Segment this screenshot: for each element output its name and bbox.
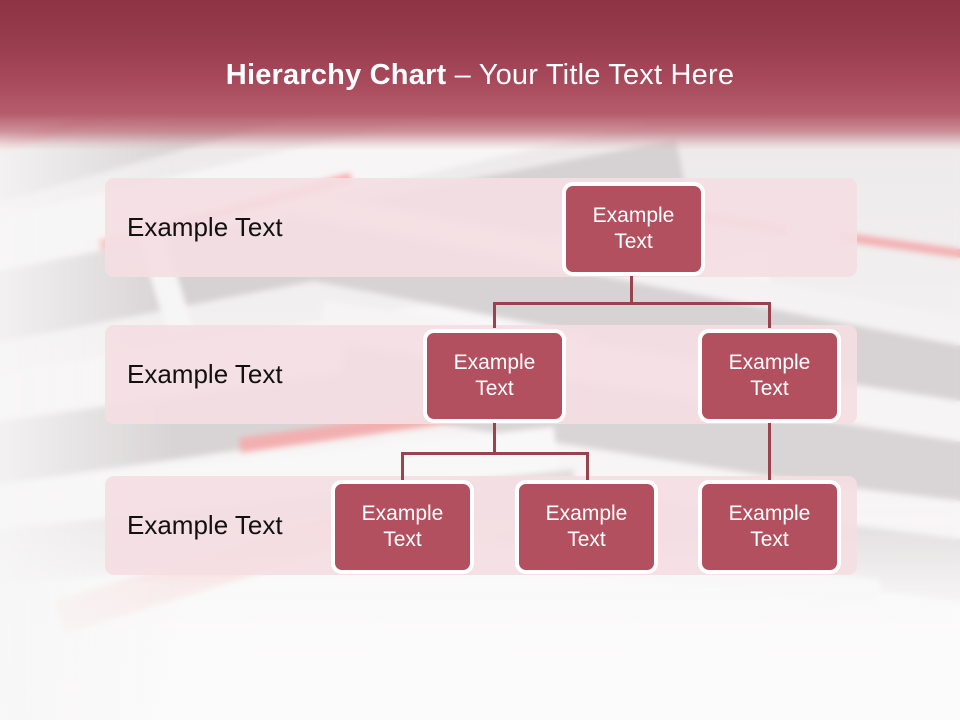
- node-n3-line2: Text: [729, 376, 811, 402]
- hierarchy-node-n5[interactable]: Example Text: [515, 480, 658, 574]
- hierarchy-level-1-label: Example Text: [127, 178, 283, 277]
- node-n1-line2: Text: [593, 229, 675, 255]
- node-n4-line1: Example: [362, 501, 444, 527]
- node-n5-line1: Example: [546, 501, 628, 527]
- connector-n2-n5-drop: [586, 452, 589, 480]
- hierarchy-node-n3[interactable]: Example Text: [698, 329, 841, 423]
- node-n5-line2: Text: [546, 527, 628, 553]
- node-n2-line1: Example: [454, 350, 536, 376]
- connector-n1-n3-drop: [768, 302, 771, 328]
- connector-level2-bus: [401, 452, 589, 455]
- hierarchy-node-n4[interactable]: Example Text: [331, 480, 474, 574]
- hierarchy-level-2-label: Example Text: [127, 325, 283, 424]
- connector-n1-stem: [630, 272, 633, 304]
- hierarchy-level-3-label: Example Text: [127, 476, 283, 575]
- node-n2-line2: Text: [454, 376, 536, 402]
- hierarchy-level-1-band: Example Text: [105, 178, 857, 277]
- connector-n2-stem: [493, 420, 496, 453]
- connector-level1-bus: [493, 302, 771, 305]
- node-n1-line1: Example: [593, 203, 675, 229]
- node-n3-line1: Example: [729, 350, 811, 376]
- hierarchy-node-n1[interactable]: Example Text: [562, 182, 705, 276]
- hierarchy-node-n6[interactable]: Example Text: [698, 480, 841, 574]
- node-n6-line1: Example: [729, 501, 811, 527]
- hierarchy-node-n2[interactable]: Example Text: [423, 329, 566, 423]
- node-n4-line2: Text: [362, 527, 444, 553]
- hierarchy-chart: Example Text Example Text Example Text E…: [0, 0, 960, 720]
- connector-n2-n4-drop: [401, 452, 404, 480]
- connector-n1-n2-drop: [493, 302, 496, 328]
- slide-canvas: Hierarchy Chart – Your Title Text Here E…: [0, 0, 960, 720]
- connector-n3-n6-drop: [768, 420, 771, 480]
- node-n6-line2: Text: [729, 527, 811, 553]
